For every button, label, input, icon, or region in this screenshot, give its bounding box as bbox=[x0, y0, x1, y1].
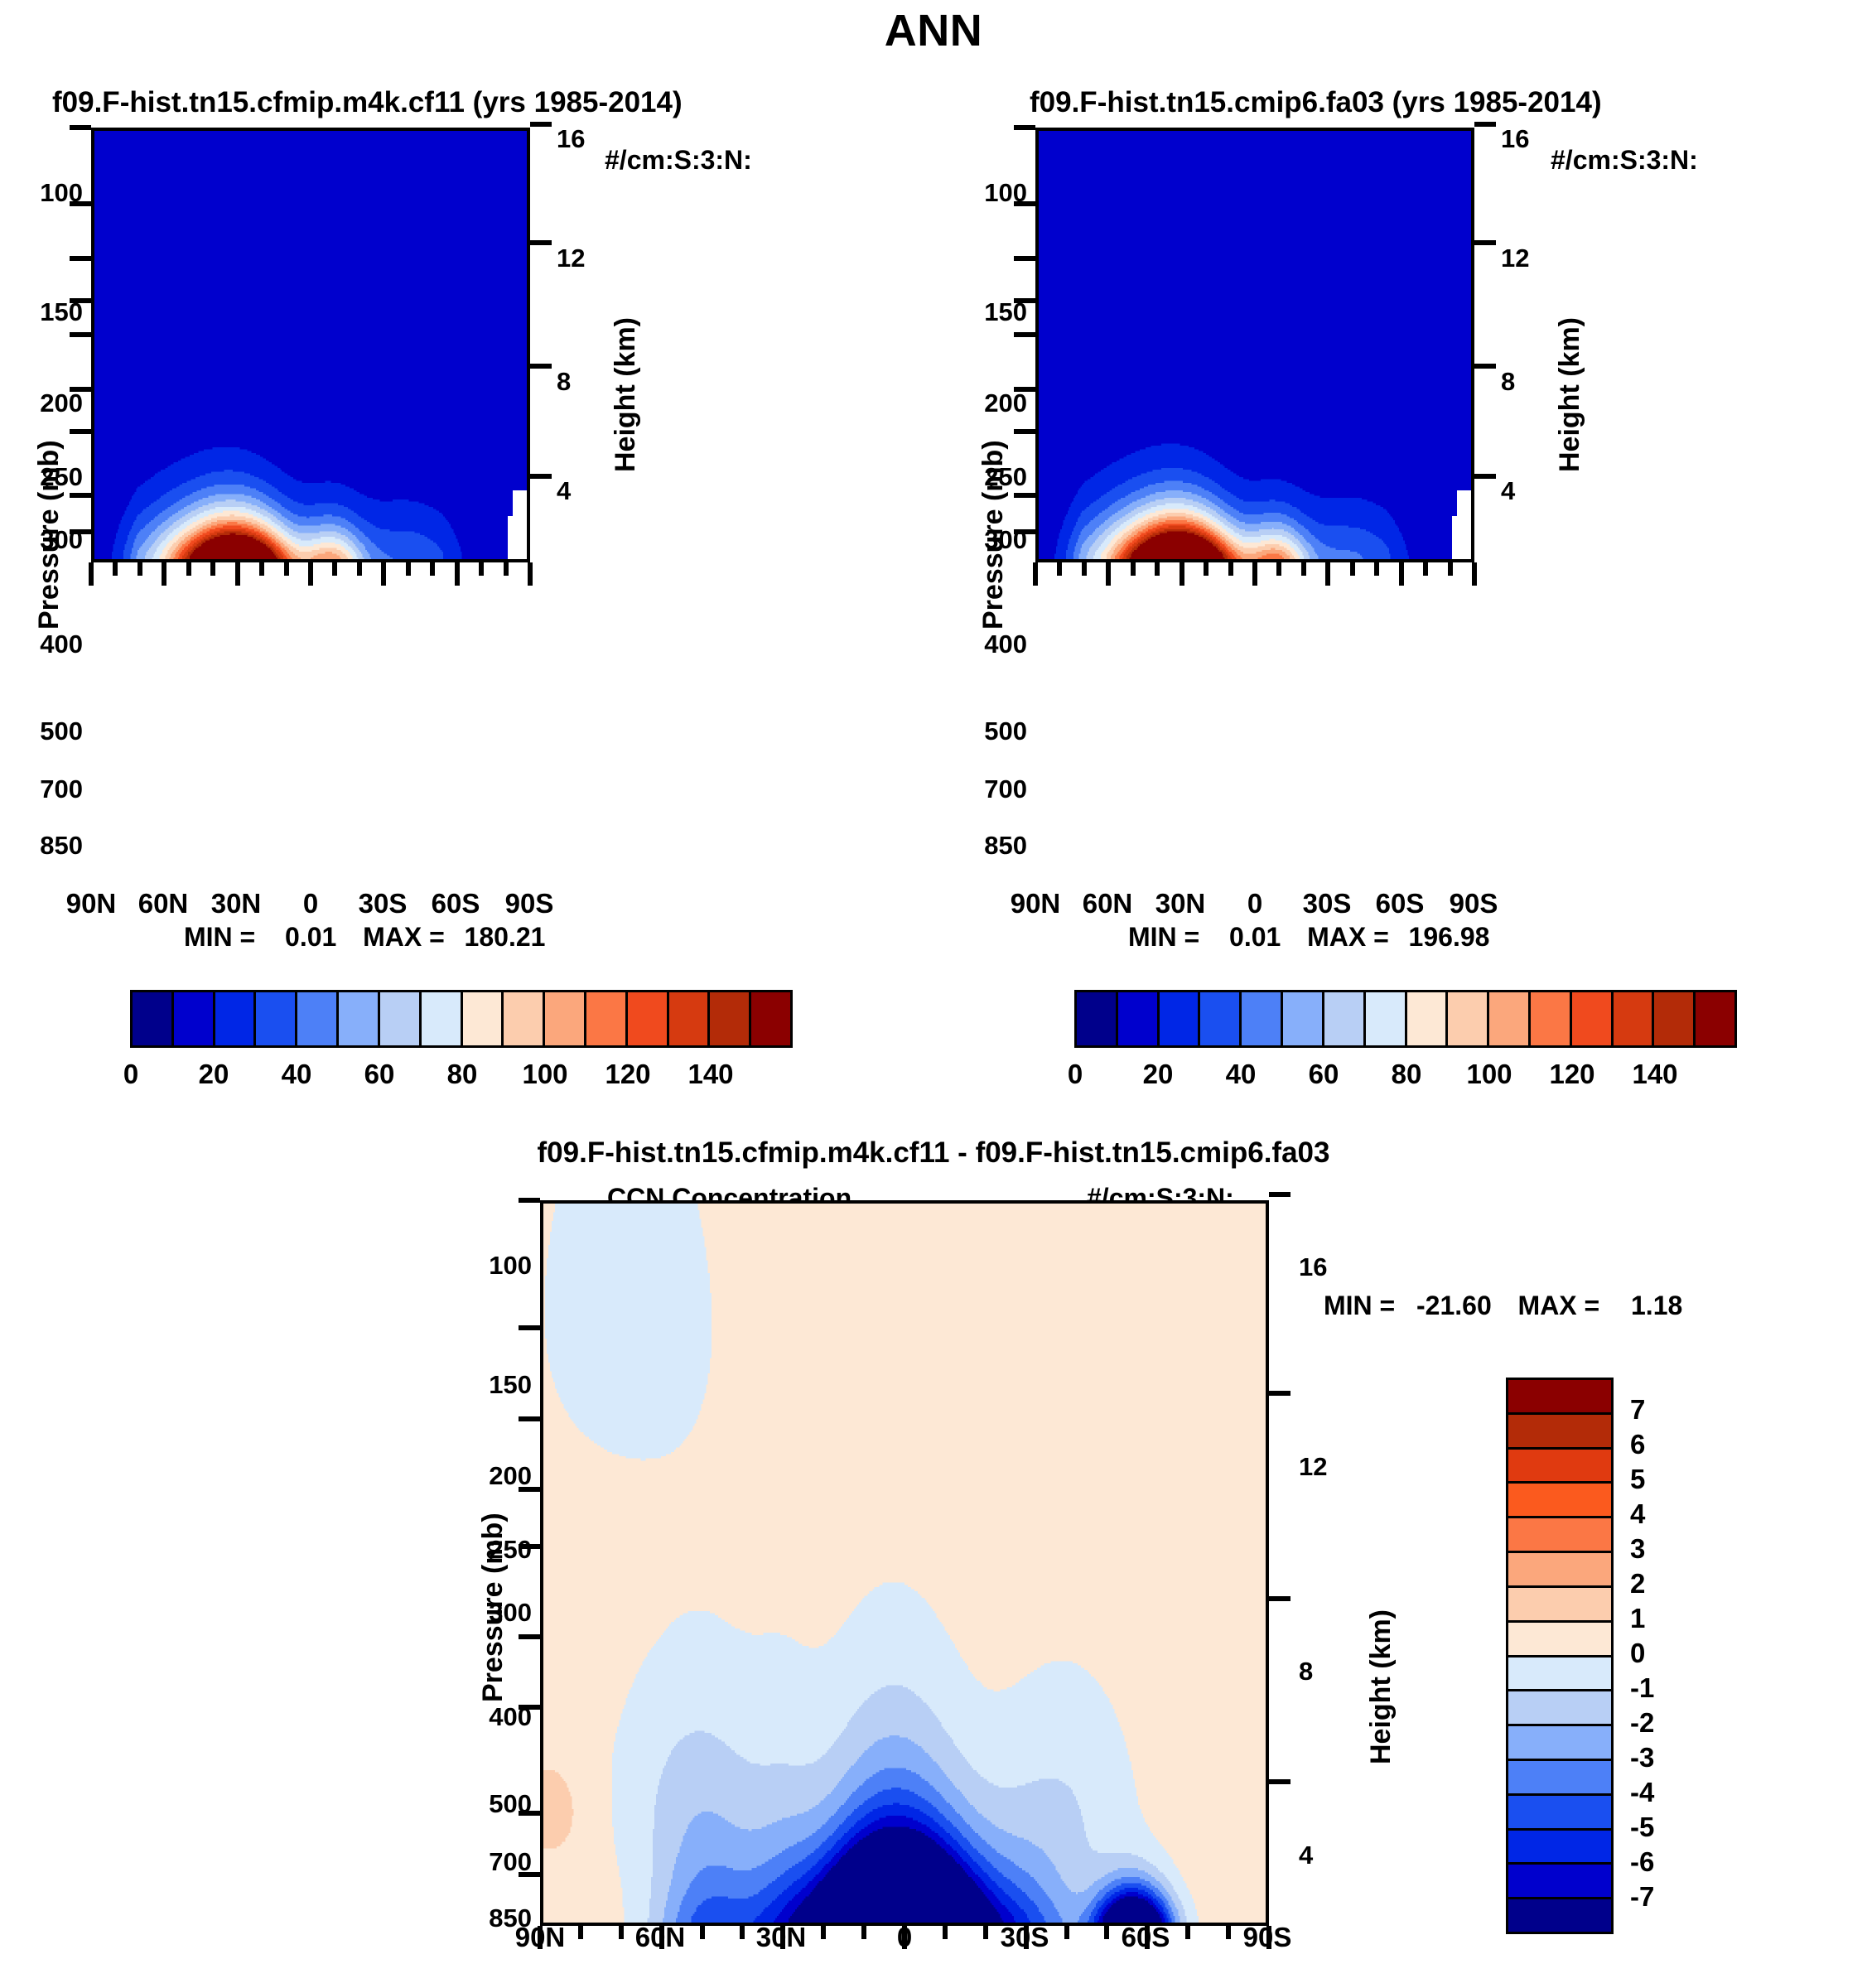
colorbar-diff-tick-2: 2 bbox=[1630, 1568, 1645, 1600]
panel-diff-y-axis-label-right: Height (km) bbox=[1365, 1609, 1397, 1764]
colorbar-swatch-1 bbox=[1118, 992, 1160, 1045]
ytick-mark-0 bbox=[519, 1198, 540, 1203]
colorbar-diff-swatch-13 bbox=[1508, 1831, 1611, 1865]
xtick-90S-right: 90S bbox=[1432, 888, 1515, 919]
ytick-700-right: 700 bbox=[956, 774, 1027, 804]
xtick-minor-5 bbox=[1228, 562, 1233, 576]
cbar-right-tick-0: 0 bbox=[1034, 1059, 1117, 1090]
cbar-right-tick-120: 120 bbox=[1531, 1059, 1614, 1090]
colorbar-diff-swatch-8 bbox=[1508, 1657, 1611, 1692]
colorbar-swatch-10 bbox=[1489, 992, 1531, 1045]
panel-diff-title: f09.F-hist.tn15.cfmip.m4k.cf11 - f09.F-h… bbox=[0, 1136, 1867, 1170]
ytick-mark-7 bbox=[1014, 493, 1035, 498]
ytickR-16-diff: 16 bbox=[1299, 1252, 1327, 1282]
below-ground-mask bbox=[513, 490, 527, 559]
xtick-minor-9 bbox=[430, 562, 435, 576]
xtick-minor-8 bbox=[1064, 1926, 1069, 1939]
colorbar-swatch-5 bbox=[1283, 992, 1324, 1045]
xtick-minor-10 bbox=[1185, 1926, 1190, 1939]
panel-right-minmax: MIN = 0.01 MAX = 196.98 bbox=[1128, 922, 1489, 953]
xtick-mark-0 bbox=[538, 1926, 543, 1949]
colorbar-swatch-7 bbox=[422, 992, 463, 1045]
panel-right-min-value: 0.01 bbox=[1229, 922, 1281, 952]
panel-left-min-label: MIN = bbox=[184, 922, 255, 952]
ytickR-16-right: 16 bbox=[1501, 124, 1529, 154]
xtick-minor-2 bbox=[186, 562, 191, 576]
colorbar-swatch-11 bbox=[586, 992, 628, 1045]
ytick-500: 500 bbox=[12, 717, 83, 746]
ytickR-8-right: 8 bbox=[1501, 367, 1515, 397]
colorbar-diff-swatch-9 bbox=[1508, 1691, 1611, 1726]
colorbar-diff-swatch-11 bbox=[1508, 1761, 1611, 1796]
cbar-right-tick-100: 100 bbox=[1448, 1059, 1531, 1090]
xtick-minor-4 bbox=[1204, 562, 1208, 576]
ytickR-4-left: 4 bbox=[557, 476, 571, 506]
colorbar-diff-swatch-15 bbox=[1508, 1899, 1611, 1932]
ytick-250-right: 250 bbox=[956, 462, 1027, 492]
cbar-left-tick-120: 120 bbox=[586, 1059, 669, 1090]
xtick-minor-10 bbox=[479, 562, 484, 576]
colorbar-swatch-12 bbox=[628, 992, 669, 1045]
panel-right-y-axis-label-right: Height (km) bbox=[1554, 317, 1586, 472]
colorbar-swatch-2 bbox=[1160, 992, 1201, 1045]
panel-right-units-label: #/cm:S:3:N: bbox=[1551, 145, 1698, 176]
ytickR-12-right: 12 bbox=[1501, 244, 1529, 273]
xtick-90N-right: 90N bbox=[994, 888, 1077, 919]
ytick-mark-2 bbox=[519, 1416, 540, 1421]
panel-left-minmax: MIN = 0.01 MAX = 180.21 bbox=[184, 922, 545, 953]
ytick-mark-6 bbox=[1014, 429, 1035, 434]
main-title: ANN bbox=[0, 5, 1867, 56]
cbar-right-tick-80: 80 bbox=[1365, 1059, 1448, 1090]
ytick-mark-1 bbox=[1014, 201, 1035, 206]
colorbar-diff-swatch-7 bbox=[1508, 1623, 1611, 1657]
colorbar-diff-tick-7: 7 bbox=[1630, 1394, 1645, 1426]
xtick-minor-4 bbox=[821, 1926, 826, 1939]
xtick-minor-3 bbox=[740, 1926, 745, 1939]
colorbar-diff-swatch-2 bbox=[1508, 1450, 1611, 1484]
colorbar-diff-tick-neg3: -3 bbox=[1630, 1742, 1654, 1773]
xtick-minor-2 bbox=[700, 1926, 705, 1939]
xtick-minor-5 bbox=[861, 1926, 866, 1939]
figure-root: ANN f09.F-hist.tn15.cfmip.m4k.cf11 (yrs … bbox=[0, 0, 1867, 1988]
panel-right-max-value: 196.98 bbox=[1409, 922, 1490, 952]
colorbar-swatch-4 bbox=[297, 992, 339, 1045]
cbar-right-tick-60: 60 bbox=[1282, 1059, 1365, 1090]
xtick-mark-5 bbox=[455, 562, 460, 586]
colorbar-swatch-9 bbox=[1448, 992, 1489, 1045]
colorbar-diff-swatch-12 bbox=[1508, 1796, 1611, 1831]
xtick-mark-1 bbox=[1106, 562, 1111, 586]
ytick-mark-3 bbox=[70, 298, 91, 303]
ytick-mark-5 bbox=[70, 387, 91, 392]
xtick-30N-left: 30N bbox=[195, 888, 277, 919]
panel-diff-contour-field bbox=[543, 1204, 1266, 1923]
ytick-mark-3 bbox=[1014, 298, 1035, 303]
cbar-left-tick-40: 40 bbox=[255, 1059, 338, 1090]
ytickR-8-diff: 8 bbox=[1299, 1657, 1313, 1686]
ytick-150-diff: 150 bbox=[461, 1370, 532, 1400]
ytickR-mark-2 bbox=[530, 364, 552, 369]
xtick-mark-1 bbox=[162, 562, 166, 586]
colorbar-swatch-9 bbox=[504, 992, 545, 1045]
colorbar-diff-tick-neg4: -4 bbox=[1630, 1777, 1654, 1808]
cbar-left-tick-100: 100 bbox=[504, 1059, 586, 1090]
xtick-minor-4 bbox=[259, 562, 264, 576]
xtick-0-right: 0 bbox=[1213, 888, 1296, 919]
xtick-60S-right: 60S bbox=[1358, 888, 1441, 919]
panel-diff-min-label: MIN = bbox=[1324, 1291, 1395, 1320]
panel-left-max-label: MAX = bbox=[363, 922, 445, 952]
xtick-mark-6 bbox=[1266, 1926, 1271, 1949]
xtick-mark-1 bbox=[659, 1926, 664, 1949]
cbar-left-tick-80: 80 bbox=[421, 1059, 504, 1090]
xtick-minor-3 bbox=[1155, 562, 1160, 576]
colorbar-swatch-7 bbox=[1366, 992, 1407, 1045]
panel-left-min-value: 0.01 bbox=[285, 922, 336, 952]
ytick-850: 850 bbox=[12, 831, 83, 861]
panel-left-max-value: 180.21 bbox=[465, 922, 546, 952]
panel-right-max-label: MAX = bbox=[1307, 922, 1389, 952]
ytick-mark-8 bbox=[70, 529, 91, 534]
xtick-minor-1 bbox=[137, 562, 142, 576]
ytickR-mark-1 bbox=[530, 240, 552, 245]
xtick-minor-6 bbox=[943, 1926, 948, 1939]
colorbar-swatch-11 bbox=[1531, 992, 1572, 1045]
ytickR-8-left: 8 bbox=[557, 367, 571, 397]
cbar-left-tick-60: 60 bbox=[338, 1059, 421, 1090]
xtick-30N-right: 30N bbox=[1139, 888, 1222, 919]
xtick-mark-3 bbox=[1252, 562, 1257, 586]
xtick-minor-0 bbox=[1057, 562, 1062, 576]
xtick-minor-11 bbox=[1226, 1926, 1231, 1939]
xtick-minor-11 bbox=[504, 562, 509, 576]
ytickR-4-diff: 4 bbox=[1299, 1841, 1313, 1870]
ytick-mark-4 bbox=[519, 1544, 540, 1549]
xtick-30S-right: 30S bbox=[1286, 888, 1368, 919]
ytick-400: 400 bbox=[12, 630, 83, 659]
xtick-mark-5 bbox=[1399, 562, 1404, 586]
panel-right-contour-field bbox=[1039, 131, 1471, 559]
ytick-mark-0 bbox=[70, 125, 91, 130]
ytick-mark-1 bbox=[70, 201, 91, 206]
panel-left-units-label: #/cm:S:3:N: bbox=[605, 145, 752, 176]
ytick-400-right: 400 bbox=[956, 630, 1027, 659]
xtick-minor-7 bbox=[983, 1926, 988, 1939]
colorbar-swatch-15 bbox=[751, 992, 790, 1045]
ytick-100-diff: 100 bbox=[461, 1251, 532, 1281]
ytick-500-right: 500 bbox=[956, 717, 1027, 746]
xtick-90S-left: 90S bbox=[488, 888, 571, 919]
colorbar-diff-tick-6: 6 bbox=[1630, 1429, 1645, 1460]
ytickR-mark-3 bbox=[530, 474, 552, 479]
colorbar-swatch-12 bbox=[1572, 992, 1614, 1045]
colorbar-swatch-14 bbox=[1654, 992, 1696, 1045]
xtick-minor-0 bbox=[113, 562, 118, 576]
cbar-left-tick-140: 140 bbox=[669, 1059, 752, 1090]
xtick-mark-2 bbox=[780, 1926, 785, 1949]
panel-right-plot-area bbox=[1035, 128, 1474, 562]
panel-diff-max-value: 1.18 bbox=[1631, 1291, 1682, 1320]
xtick-minor-9 bbox=[1374, 562, 1379, 576]
xtick-minor-11 bbox=[1448, 562, 1453, 576]
xtick-minor-2 bbox=[1131, 562, 1136, 576]
colorbar-diff-tick-neg2: -2 bbox=[1630, 1707, 1654, 1739]
colorbar-swatch-0 bbox=[133, 992, 174, 1045]
colorbar-diff-tick-1: 1 bbox=[1630, 1603, 1645, 1634]
colorbar-swatch-8 bbox=[463, 992, 504, 1045]
xtick-mark-3 bbox=[902, 1926, 907, 1949]
xtick-minor-7 bbox=[357, 562, 362, 576]
xtick-minor-6 bbox=[332, 562, 337, 576]
ytick-mark-7 bbox=[519, 1811, 540, 1816]
panel-diff-minmax: MIN = -21.60 MAX = 1.18 bbox=[1324, 1291, 1682, 1321]
xtick-mark-3 bbox=[308, 562, 313, 586]
colorbar-diff-tick-neg5: -5 bbox=[1630, 1812, 1654, 1843]
ytickR-12-left: 12 bbox=[557, 244, 585, 273]
ytick-mark-2 bbox=[1014, 256, 1035, 261]
colorbar-swatch-13 bbox=[1614, 992, 1655, 1045]
xtick-mark-5 bbox=[1145, 1926, 1150, 1949]
ytickR-mark-1 bbox=[1474, 240, 1496, 245]
colorbar-swatch-6 bbox=[1324, 992, 1366, 1045]
ytickR-16-left: 16 bbox=[557, 124, 585, 154]
ytick-mark-5 bbox=[519, 1634, 540, 1639]
panel-left-plot-area bbox=[91, 128, 530, 562]
ytick-250-diff: 250 bbox=[461, 1535, 532, 1565]
colorbar-right[interactable] bbox=[1074, 990, 1737, 1048]
colorbar-swatch-15 bbox=[1696, 992, 1734, 1045]
ytick-250: 250 bbox=[12, 462, 83, 492]
xtick-mark-6 bbox=[528, 562, 533, 586]
colorbar-diff-tick-neg6: -6 bbox=[1630, 1846, 1654, 1878]
colorbar-diff-tick-neg1: -1 bbox=[1630, 1672, 1654, 1704]
cbar-left-tick-0: 0 bbox=[89, 1059, 172, 1090]
below-ground-mask-step bbox=[508, 516, 514, 559]
xtick-mark-2 bbox=[1180, 562, 1184, 586]
ytick-mark-1 bbox=[519, 1325, 540, 1330]
xtick-minor-3 bbox=[210, 562, 215, 576]
cbar-right-tick-140: 140 bbox=[1614, 1059, 1696, 1090]
panel-left-y-axis-label-right: Height (km) bbox=[610, 317, 642, 472]
ytick-700: 700 bbox=[12, 774, 83, 804]
colorbar-swatch-6 bbox=[380, 992, 422, 1045]
ytick-mark-5 bbox=[1014, 387, 1035, 392]
ytick-300-diff: 300 bbox=[461, 1598, 532, 1628]
ytickR-mark-2 bbox=[1269, 1596, 1290, 1601]
xtick-mark-4 bbox=[1325, 562, 1330, 586]
cbar-left-tick-20: 20 bbox=[172, 1059, 255, 1090]
xtick-60N-left: 60N bbox=[122, 888, 205, 919]
xtick-minor-1 bbox=[1082, 562, 1087, 576]
xtick-mark-6 bbox=[1472, 562, 1477, 586]
cbar-right-tick-20: 20 bbox=[1117, 1059, 1199, 1090]
colorbar-swatch-2 bbox=[215, 992, 257, 1045]
ytick-mark-2 bbox=[70, 256, 91, 261]
colorbar-diff-swatch-3 bbox=[1508, 1484, 1611, 1518]
ytickR-12-diff: 12 bbox=[1299, 1452, 1327, 1482]
colorbar-swatch-14 bbox=[710, 992, 751, 1045]
xtick-mark-2 bbox=[235, 562, 240, 586]
colorbar-diff-tick-4: 4 bbox=[1630, 1498, 1645, 1530]
colorbar-left[interactable] bbox=[130, 990, 793, 1048]
colorbar-diff-swatch-10 bbox=[1508, 1726, 1611, 1761]
xtick-minor-7 bbox=[1301, 562, 1306, 576]
colorbar-difference[interactable] bbox=[1506, 1378, 1614, 1934]
ytickR-mark-0 bbox=[1474, 122, 1496, 127]
ytick-mark-6 bbox=[70, 429, 91, 434]
xtick-mark-0 bbox=[1033, 562, 1038, 586]
xtick-minor-5 bbox=[284, 562, 289, 576]
panel-diff-plot-area bbox=[540, 1200, 1269, 1926]
colorbar-diff-swatch-0 bbox=[1508, 1380, 1611, 1415]
colorbar-diff-swatch-14 bbox=[1508, 1865, 1611, 1899]
colorbar-swatch-5 bbox=[339, 992, 380, 1045]
ytick-200-right: 200 bbox=[956, 388, 1027, 418]
ytick-mark-8 bbox=[1014, 529, 1035, 534]
xtick-mark-0 bbox=[89, 562, 94, 586]
ytick-mark-4 bbox=[1014, 332, 1035, 337]
colorbar-diff-swatch-1 bbox=[1508, 1415, 1611, 1450]
xtick-90N-left: 90N bbox=[50, 888, 133, 919]
panel-diff-min-value: -21.60 bbox=[1416, 1291, 1492, 1320]
xtick-60S-left: 60S bbox=[414, 888, 497, 919]
colorbar-swatch-1 bbox=[174, 992, 215, 1045]
ytickR-mark-3 bbox=[1269, 1779, 1290, 1784]
colorbar-swatch-13 bbox=[669, 992, 711, 1045]
colorbar-swatch-10 bbox=[545, 992, 586, 1045]
ytick-mark-4 bbox=[70, 332, 91, 337]
ytickR-4-right: 4 bbox=[1501, 476, 1515, 506]
colorbar-swatch-3 bbox=[256, 992, 297, 1045]
colorbar-diff-tick-neg7: -7 bbox=[1630, 1881, 1654, 1913]
ytick-mark-3 bbox=[519, 1487, 540, 1492]
ytickR-mark-3 bbox=[1474, 474, 1496, 479]
xtick-mark-4 bbox=[1024, 1926, 1029, 1949]
xtick-minor-6 bbox=[1276, 562, 1281, 576]
panel-diff-max-label: MAX = bbox=[1518, 1291, 1600, 1320]
colorbar-swatch-8 bbox=[1407, 992, 1449, 1045]
colorbar-diff-swatch-4 bbox=[1508, 1518, 1611, 1553]
xtick-minor-10 bbox=[1423, 562, 1428, 576]
panel-right-min-label: MIN = bbox=[1128, 922, 1199, 952]
xtick-30S-left: 30S bbox=[341, 888, 424, 919]
ytick-mark-6 bbox=[519, 1705, 540, 1710]
panel-right-title: f09.F-hist.tn15.cmip6.fa03 (yrs 1985-201… bbox=[1030, 86, 1602, 119]
ytick-mark-7 bbox=[70, 493, 91, 498]
xtick-minor-0 bbox=[578, 1926, 583, 1939]
colorbar-diff-swatch-5 bbox=[1508, 1553, 1611, 1588]
ytick-200: 200 bbox=[12, 388, 83, 418]
xtick-minor-9 bbox=[1104, 1926, 1109, 1939]
ytick-850-right: 850 bbox=[956, 831, 1027, 861]
colorbar-swatch-0 bbox=[1077, 992, 1118, 1045]
colorbar-swatch-4 bbox=[1242, 992, 1283, 1045]
colorbar-diff-tick-0: 0 bbox=[1630, 1638, 1645, 1669]
xtick-minor-8 bbox=[1350, 562, 1355, 576]
xtick-0-left: 0 bbox=[269, 888, 352, 919]
panel-left-contour-field bbox=[94, 131, 527, 559]
colorbar-diff-tick-5: 5 bbox=[1630, 1464, 1645, 1495]
ytickR-mark-2 bbox=[1474, 364, 1496, 369]
colorbar-diff-swatch-6 bbox=[1508, 1588, 1611, 1623]
ytick-mark-0 bbox=[1014, 125, 1035, 130]
colorbar-swatch-3 bbox=[1200, 992, 1242, 1045]
colorbar-diff-tick-3: 3 bbox=[1630, 1533, 1645, 1565]
xtick-60N-right: 60N bbox=[1066, 888, 1149, 919]
xtick-mark-4 bbox=[381, 562, 386, 586]
xtick-minor-1 bbox=[619, 1926, 624, 1939]
cbar-right-tick-40: 40 bbox=[1199, 1059, 1282, 1090]
panel-left-title: f09.F-hist.tn15.cfmip.m4k.cf11 (yrs 1985… bbox=[52, 86, 683, 119]
ytick-mark-8 bbox=[519, 1872, 540, 1877]
below-ground-mask bbox=[1457, 490, 1471, 559]
ytickR-mark-1 bbox=[1269, 1391, 1290, 1396]
below-ground-mask-step bbox=[1452, 516, 1458, 559]
ytickR-mark-0 bbox=[1269, 1192, 1290, 1197]
ytickR-mark-0 bbox=[530, 122, 552, 127]
xtick-minor-8 bbox=[406, 562, 411, 576]
